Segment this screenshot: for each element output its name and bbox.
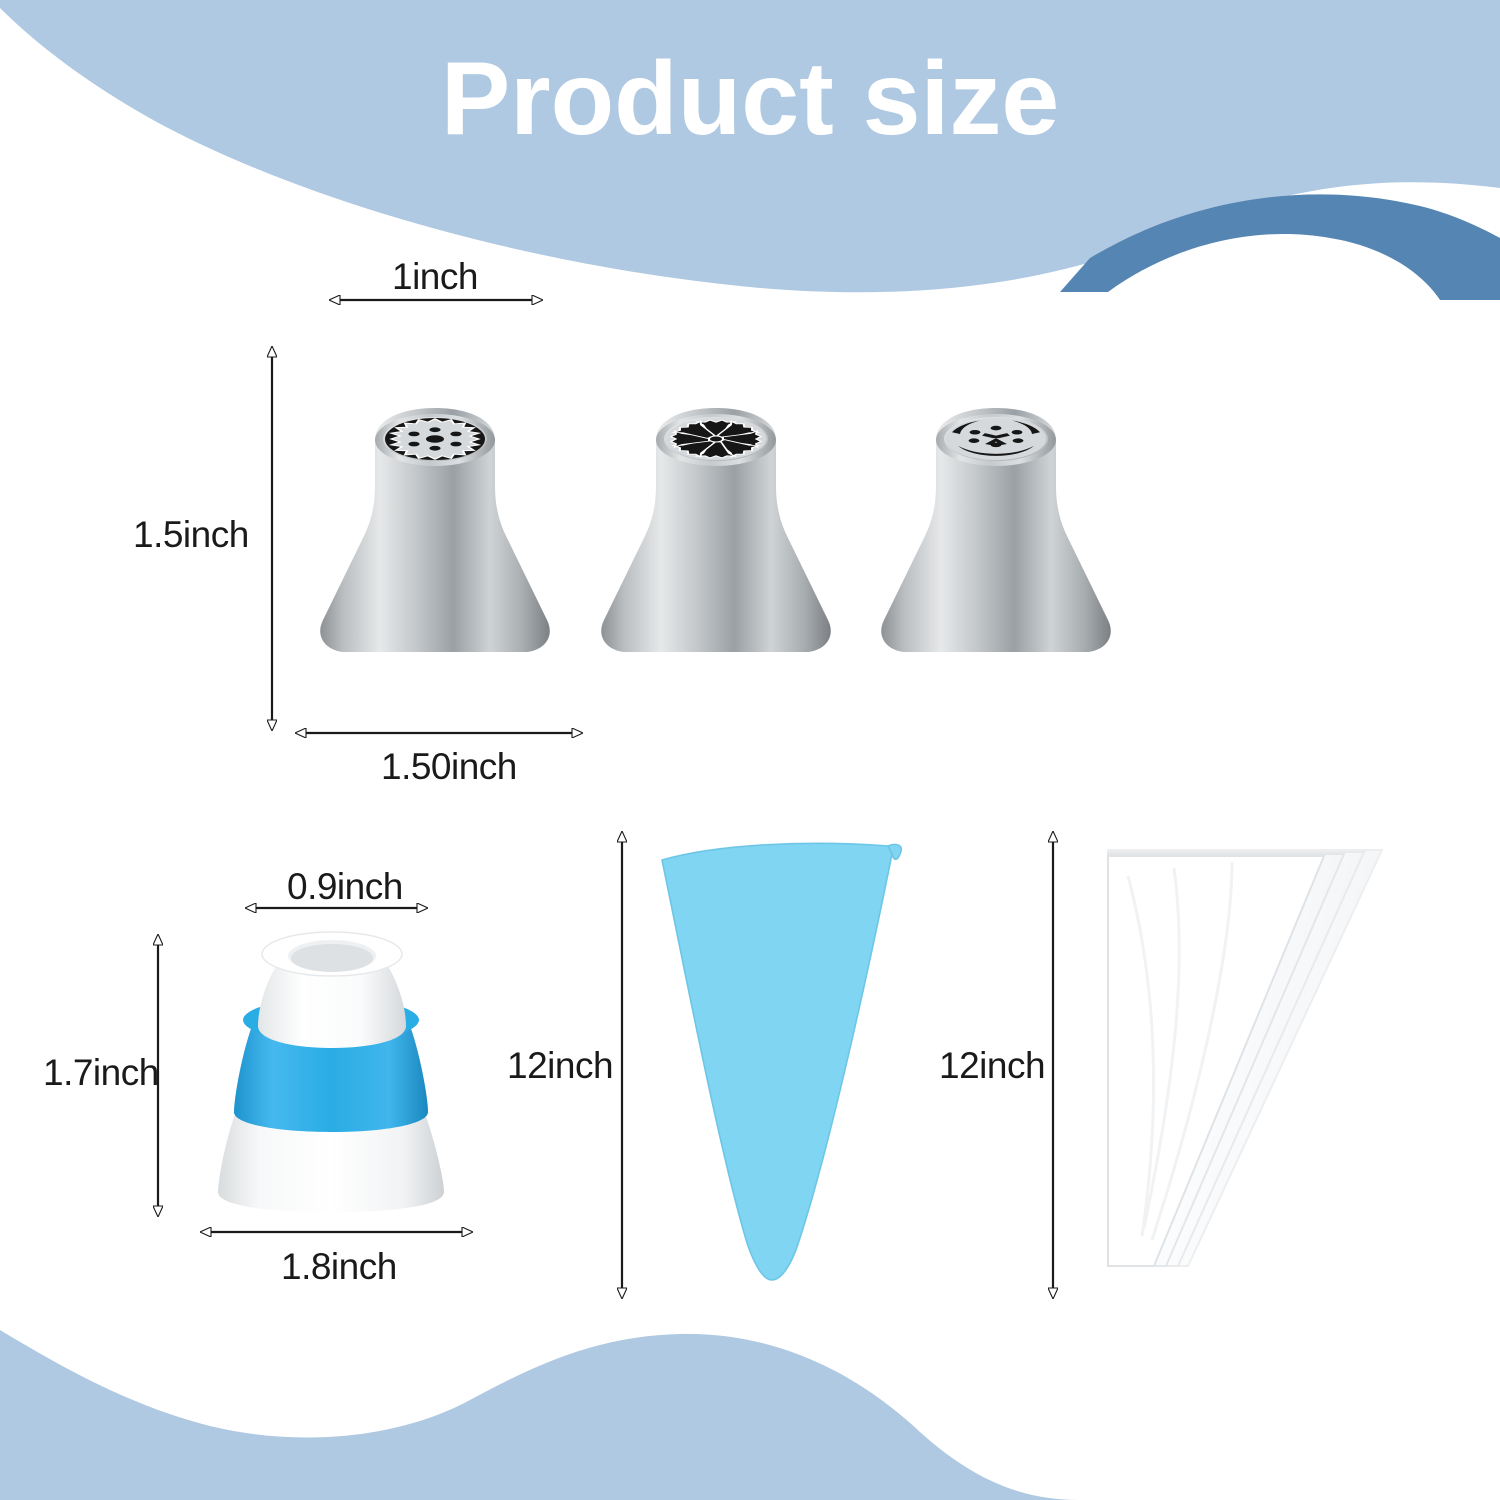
disposable-bags-height-label: 12inch [939,1045,1045,1087]
nozzle-top-width-label: 1inch [392,256,478,298]
coupler-height-label: 1.7inch [43,1052,159,1094]
product-size-infographic: Product size [0,0,1500,1500]
dimension-arrows [0,0,1500,1500]
coupler-top-width-label: 0.9inch [287,866,403,908]
silicone-bag-height-label: 12inch [507,1045,613,1087]
nozzle-height-label: 1.5inch [133,514,249,556]
coupler-bottom-width-label: 1.8inch [281,1246,397,1288]
page-title: Product size [0,38,1500,161]
nozzle-bottom-width-label: 1.50inch [381,746,517,788]
